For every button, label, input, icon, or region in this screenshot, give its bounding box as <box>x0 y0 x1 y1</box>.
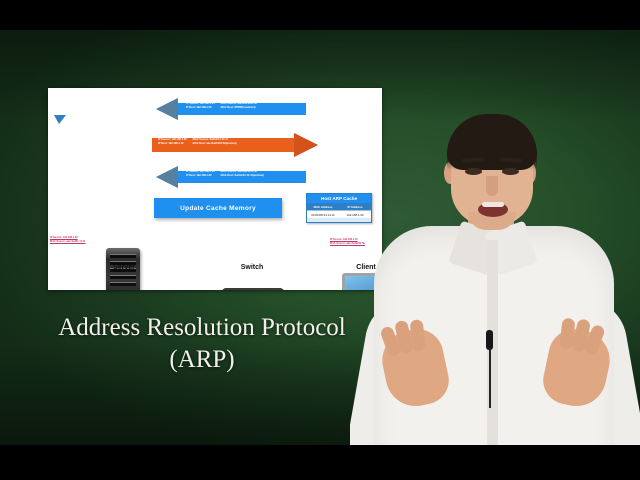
server-annotation: IP Source: 192.168.1.30 MAC Source: aacc… <box>50 236 85 243</box>
letterbox-bottom <box>0 445 640 480</box>
arrow2-ip-dest: IP Dest: 192.168.1.10 <box>158 142 187 146</box>
arrow3-mac-dest: MAC Dest: Switch01:11:11(unicast) <box>221 174 264 178</box>
arrow-arp-reply-unicast: IP Source: 192.168.1.30 IP Dest: 192.168… <box>152 133 318 157</box>
slide-title-line2: (ARP) <box>0 344 404 376</box>
switch-icon <box>220 288 286 290</box>
slide-title-line1: Address Resolution Protocol <box>0 312 404 344</box>
switch-label: Switch <box>224 264 280 271</box>
slide-arp-diagram: IP Source: 192.168.1.10 IP Dest: 192.168… <box>48 88 382 290</box>
server-label: Server <box>96 264 152 271</box>
lapel-microphone-icon <box>486 330 493 350</box>
presenter-teeth <box>482 202 504 207</box>
arrow-arp-forward-unicast: IP Source: 192.168.1.10 IP Dest: 192.168… <box>156 166 306 188</box>
letterbox-top <box>0 0 640 30</box>
presenter-eye-left <box>465 168 482 175</box>
arp-cache-col-mac: MAC Address <box>307 203 339 210</box>
microphone-wire <box>489 348 491 408</box>
arrow3-ip-dest: IP Dest: 192.168.1.30 <box>186 174 215 178</box>
arp-cache-callout-tail <box>54 115 66 124</box>
arrow-arp-request-broadcast: IP Source: 192.168.1.10 IP Dest: 192.168… <box>156 98 306 120</box>
presenter-eye-right <box>502 168 519 175</box>
server-annotation-line2: MAC Source: aaccbef01:11:11 <box>50 240 85 244</box>
presenter-hair-shadow <box>447 150 537 170</box>
arp-cache-cell-mac: 04:83:D8:F1:11:11 <box>307 211 339 218</box>
slide-title: Address Resolution Protocol (ARP) <box>0 312 404 376</box>
presenter-nose <box>486 176 498 196</box>
switch-top <box>222 288 284 290</box>
arrow1-mac-dest: MAC Dest: ffffffff(broadcast) <box>221 106 257 110</box>
video-frame: IP Source: 192.168.1.10 IP Dest: 192.168… <box>0 0 640 480</box>
arrow1-ip-dest: IP Dest: 192.168.1.30 <box>186 106 215 110</box>
presenter <box>350 30 640 445</box>
arrow2-mac-dest: MAC Dest: aaccbef1234:5b(unicast) <box>193 142 237 146</box>
update-cache-memory-banner: Update Cache Memory <box>154 198 282 218</box>
